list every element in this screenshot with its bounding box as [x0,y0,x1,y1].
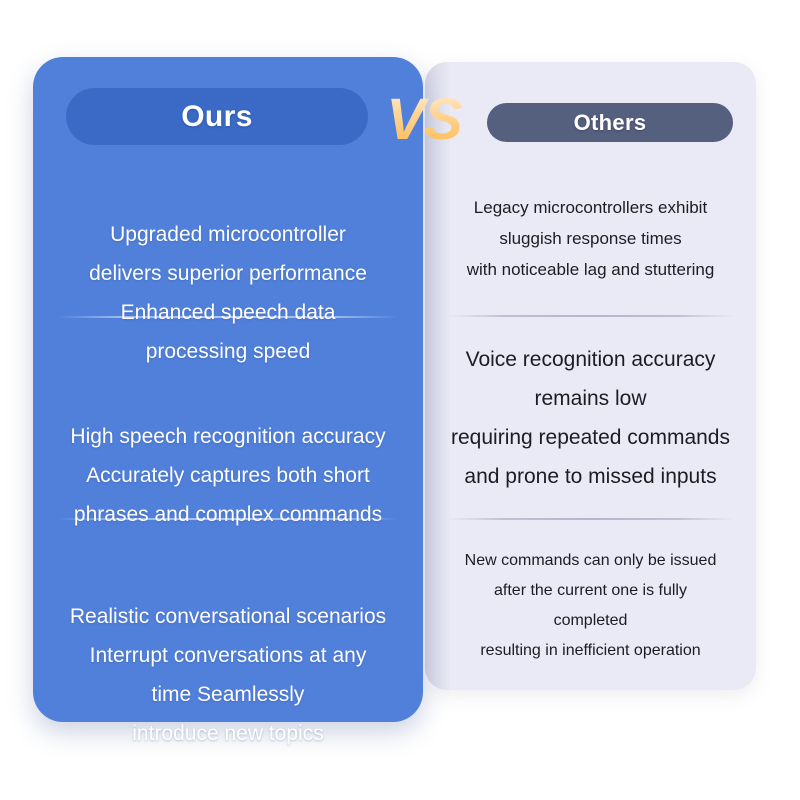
ours-feature-line: time Seamlessly [47,675,409,714]
others-feature-line: New commands can only be issued [433,546,748,576]
others-feature-line: after the current one is fully [433,576,748,606]
ours-feature-line: Realistic conversational scenarios [47,597,409,636]
ours-header-label: Ours [181,100,253,134]
ours-feature-line: High speech recognition accuracy [47,417,409,456]
ours-feature-line: delivers superior performance [47,254,409,293]
ours-divider [58,518,398,520]
others-feature-block-2: Voice recognition accuracy remains low r… [433,340,748,496]
ours-header-pill: Ours [66,88,368,145]
ours-feature-line: Interrupt conversations at any [47,636,409,675]
others-panel: Others Legacy microcontrollers exhibit s… [425,62,756,690]
ours-feature-block-3: Realistic conversational scenarios Inter… [47,597,409,753]
others-feature-line: with noticeable lag and stuttering [433,254,748,285]
others-header-pill: Others [487,103,733,142]
others-feature-line: sluggish response times [433,223,748,254]
versus-badge: VS [378,86,470,152]
ours-feature-line: Accurately captures both short [47,456,409,495]
others-header-label: Others [574,110,647,136]
others-feature-line: Voice recognition accuracy [433,340,748,379]
ours-panel: Ours Upgraded microcontroller delivers s… [33,57,423,722]
others-feature-line: completed [433,606,748,636]
ours-feature-block-2: High speech recognition accuracy Accurat… [47,417,409,534]
ours-feature-line: introduce new topics [47,714,409,753]
others-divider [447,518,735,520]
ours-feature-line: processing speed [47,332,409,371]
comparison-infographic: Others Legacy microcontrollers exhibit s… [0,0,800,800]
others-feature-line: Legacy microcontrollers exhibit [433,192,748,223]
others-feature-line: and prone to missed inputs [433,457,748,496]
ours-feature-line: phrases and complex commands [47,495,409,534]
others-feature-line: remains low [433,379,748,418]
others-feature-line: requiring repeated commands [433,418,748,457]
others-feature-block-3: New commands can only be issued after th… [433,546,748,666]
others-divider [447,315,735,317]
ours-feature-line: Upgraded microcontroller [47,215,409,254]
ours-feature-block-1: Upgraded microcontroller delivers superi… [47,215,409,371]
ours-feature-line: Enhanced speech data [47,293,409,332]
others-feature-block-1: Legacy microcontrollers exhibit sluggish… [433,192,748,285]
others-feature-line: resulting in inefficient operation [433,636,748,666]
ours-divider [58,316,398,318]
